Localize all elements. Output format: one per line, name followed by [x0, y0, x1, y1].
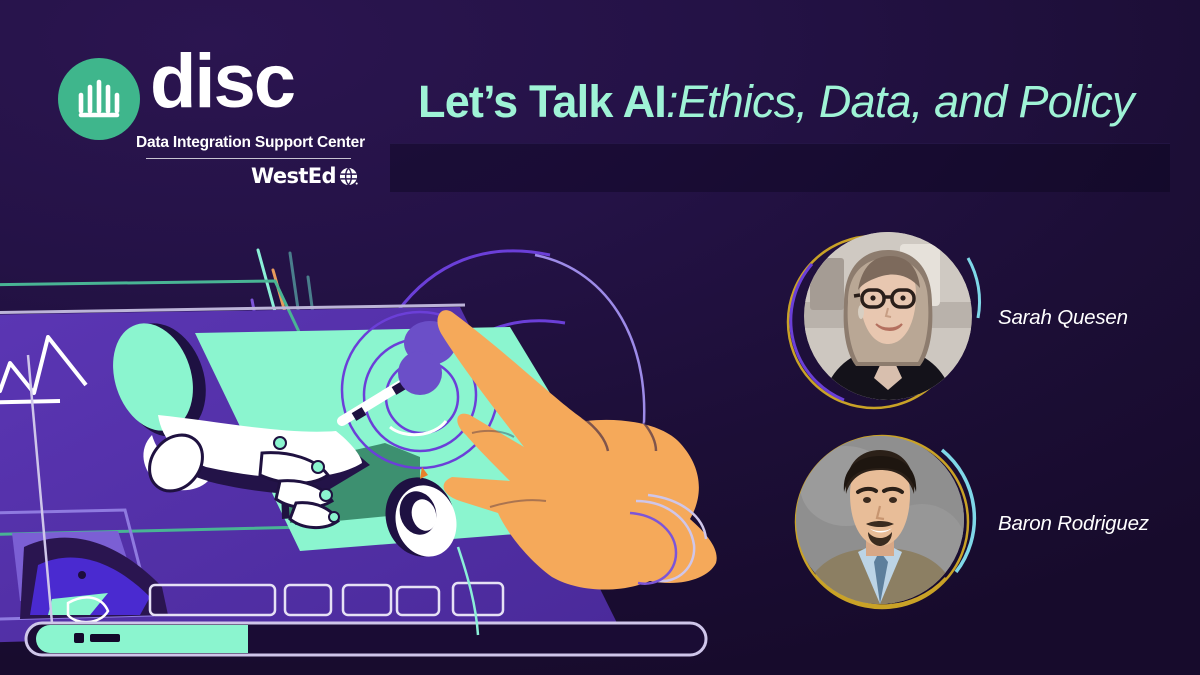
logo-tagline: Data Integration Support Center: [136, 134, 358, 152]
wested-wordmark: WestEd: [251, 164, 336, 188]
title-bold-part: Let’s Talk AI: [418, 76, 666, 127]
title-italic-part: :Ethics, Data, and Policy: [666, 76, 1134, 127]
speaker-name: Baron Rodriguez: [998, 512, 1149, 536]
page-title: Let’s Talk AI:Ethics, Data, and Policy: [418, 76, 1134, 128]
speaker-card-sarah-quesen: Sarah Quesen: [782, 218, 1182, 418]
headshot-sarah-quesen: [804, 232, 972, 400]
disc-logo: disc Data Integration Support Center Wes…: [58, 52, 358, 192]
hero-illustration: [0, 195, 780, 675]
bar-chart-mark-icon: [58, 58, 140, 140]
speaker-name: Sarah Quesen: [998, 306, 1128, 330]
wested-lockup: WestEd: [238, 164, 358, 188]
logo-wordmark: disc: [150, 44, 294, 120]
headshot-baron-rodriguez: [796, 436, 964, 604]
slide-root: disc Data Integration Support Center Wes…: [0, 0, 1200, 675]
logo-divider: [146, 158, 351, 159]
speaker-card-baron-rodriguez: Baron Rodriguez: [782, 422, 1182, 622]
wested-globe-icon: [339, 167, 358, 186]
title-backdrop-panel: [390, 143, 1170, 192]
